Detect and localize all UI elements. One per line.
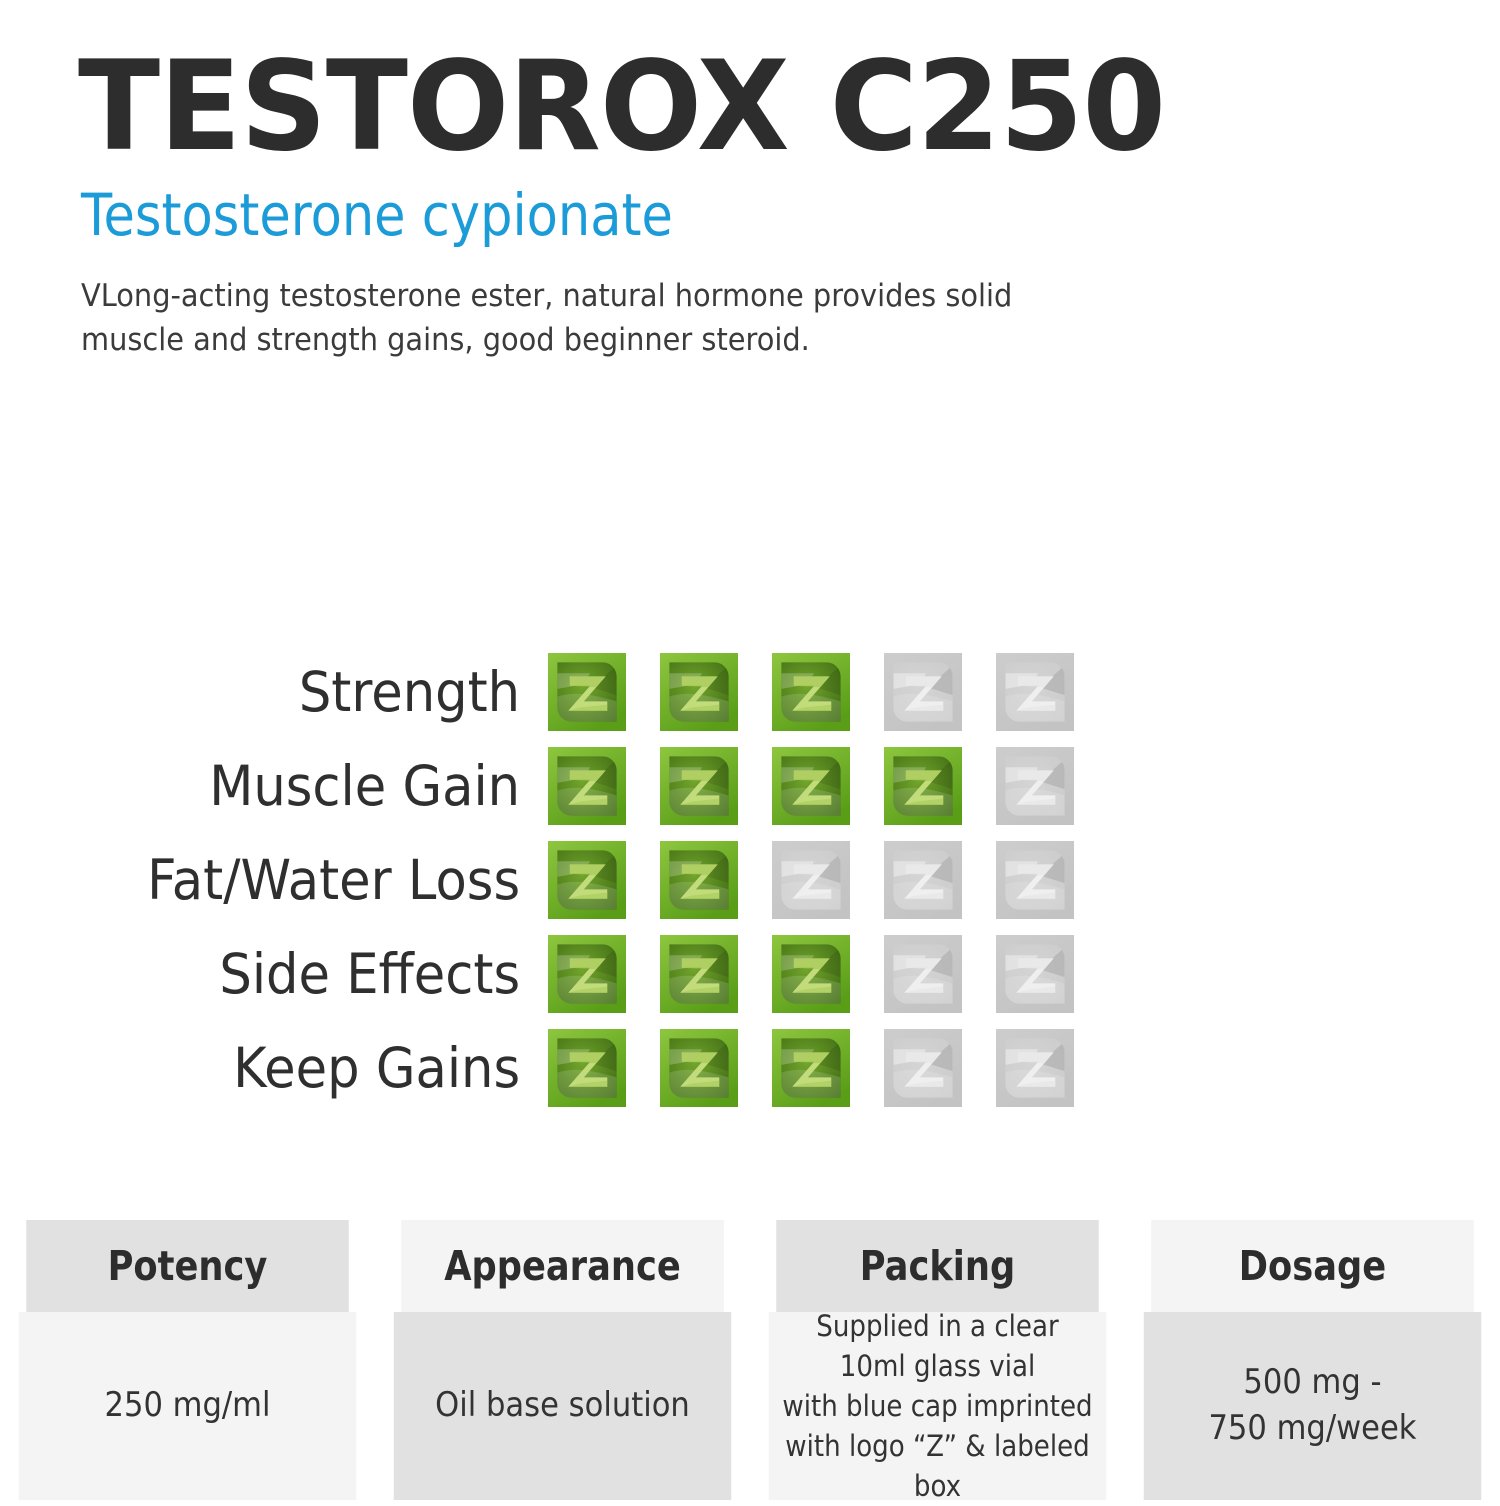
spec-header-cell: Appearance — [401, 1220, 724, 1312]
z-logo-icon-filled — [660, 1029, 738, 1107]
z-logo-icon-empty — [884, 1029, 962, 1107]
rating-row: Keep Gains — [0, 1021, 1500, 1115]
z-logo-icon-filled — [548, 747, 626, 825]
z-logo-icon-empty — [996, 841, 1074, 919]
rating-row: Strength — [0, 645, 1500, 739]
z-logo-icon-empty — [772, 841, 850, 919]
spec-value-cell: 500 mg -750 mg/week — [1144, 1312, 1482, 1500]
rating-pips — [548, 1029, 1074, 1107]
page-title: TESTOROX C250 — [78, 42, 1378, 173]
spec-header-cell: Dosage — [1151, 1220, 1474, 1312]
z-logo-icon-empty — [996, 1029, 1074, 1107]
z-logo-icon-filled — [548, 841, 626, 919]
spec-value-cell: Oil base solution — [394, 1312, 732, 1500]
rating-pips — [548, 935, 1074, 1013]
z-logo-icon-empty — [996, 935, 1074, 1013]
z-logo-icon-filled — [660, 653, 738, 731]
rating-label: Muscle Gain — [38, 759, 548, 814]
z-logo-icon-empty — [996, 747, 1074, 825]
z-logo-icon-empty — [996, 653, 1074, 731]
rating-label: Keep Gains — [38, 1041, 548, 1096]
z-logo-icon-filled — [548, 1029, 626, 1107]
rating-pips — [548, 841, 1074, 919]
spec-header-cell: Potency — [26, 1220, 349, 1312]
rating-pips — [548, 653, 1074, 731]
z-logo-icon-filled — [660, 841, 738, 919]
spec-value-cell: 250 mg/ml — [19, 1312, 357, 1500]
rating-label: Fat/Water Loss — [38, 853, 548, 908]
z-logo-icon-filled — [772, 653, 850, 731]
product-description: VLong-acting testosterone ester, natural… — [81, 274, 1020, 362]
spec-value-cell: Supplied in a clear10ml glass vialwith b… — [769, 1312, 1107, 1500]
z-logo-icon-empty — [884, 841, 962, 919]
rating-row: Side Effects — [0, 927, 1500, 1021]
product-header: TESTOROX C250 Testosterone cypionate VLo… — [78, 42, 1418, 362]
z-logo-icon-filled — [772, 935, 850, 1013]
z-logo-icon-filled — [660, 747, 738, 825]
ratings-section: Strength — [0, 645, 1500, 1115]
rating-pips — [548, 747, 1074, 825]
z-logo-icon-empty — [884, 935, 962, 1013]
z-logo-icon-filled — [884, 747, 962, 825]
z-logo-icon-filled — [772, 1029, 850, 1107]
z-logo-icon-filled — [660, 935, 738, 1013]
z-logo-icon-empty — [884, 653, 962, 731]
spec-table: PotencyAppearancePackingDosage250 mg/mlO… — [0, 1220, 1500, 1500]
product-subtitle: Testosterone cypionate — [81, 183, 1258, 248]
rating-label: Side Effects — [38, 947, 548, 1002]
z-logo-icon-filled — [548, 935, 626, 1013]
z-logo-icon-filled — [772, 747, 850, 825]
rating-row: Fat/Water Loss — [0, 833, 1500, 927]
z-logo-icon-filled — [548, 653, 626, 731]
rating-row: Muscle Gain — [0, 739, 1500, 833]
rating-label: Strength — [38, 665, 548, 720]
spec-header-cell: Packing — [776, 1220, 1099, 1312]
